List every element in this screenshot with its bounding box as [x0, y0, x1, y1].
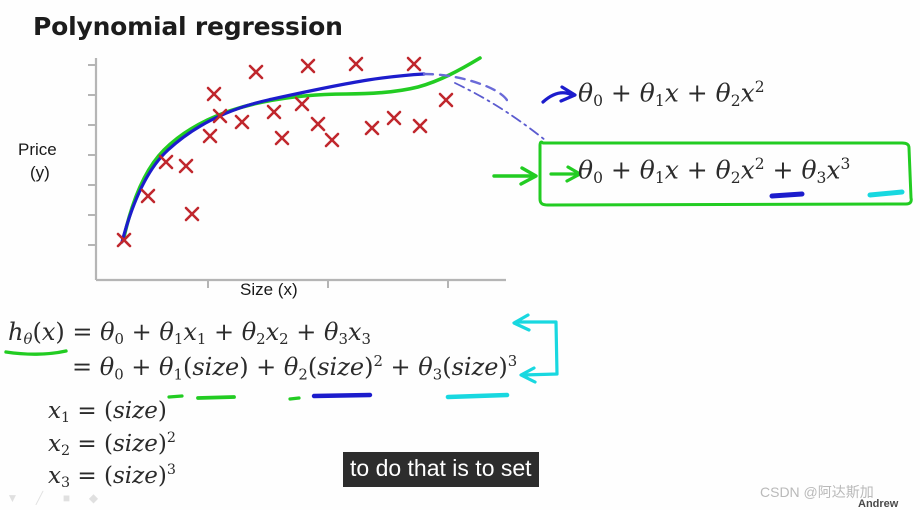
annotation-toolbar[interactable]: ▼ ╱ ■ ◆	[6, 492, 100, 505]
green-underline-size1	[198, 397, 234, 398]
cyan-underline-x3	[870, 192, 902, 195]
subtitle-caption: to do that is to set	[343, 452, 539, 487]
chart-svg	[88, 52, 508, 292]
green-arrow-outer-head	[521, 168, 536, 184]
x3-definition: x3 = (size)3	[48, 462, 176, 491]
scatter-chart	[88, 52, 508, 292]
data-point	[326, 134, 338, 146]
data-point	[204, 130, 216, 142]
data-point	[268, 106, 280, 118]
data-point	[250, 66, 262, 78]
data-point	[160, 156, 172, 168]
cyan-bracket-arrow-top	[514, 315, 529, 330]
eraser-icon[interactable]: ■	[60, 492, 73, 505]
data-point	[186, 208, 198, 220]
blue-arrow	[543, 93, 572, 102]
data-point	[414, 120, 426, 132]
green-underline-hypothesis	[6, 351, 66, 354]
cubic-equation: θ0 + θ1x + θ2x2 + θ3x3	[578, 155, 850, 187]
data-point	[408, 58, 420, 70]
quadratic-fit-curve	[122, 74, 424, 242]
data-point	[440, 94, 452, 106]
x-axis-label: Size (x)	[240, 280, 298, 300]
quadratic-equation: θ0 + θ1x + θ2x2	[578, 78, 765, 110]
green-underline-theta2	[290, 398, 299, 399]
data-point	[388, 112, 400, 124]
watermark: CSDN @阿达斯加	[760, 482, 874, 502]
data-point	[208, 88, 220, 100]
data-point	[350, 58, 362, 70]
data-point	[142, 190, 154, 202]
line-icon[interactable]: ╱	[33, 492, 46, 505]
y-axis-label-price: Price	[18, 140, 57, 160]
blue-arrow-head	[561, 87, 575, 101]
data-point	[180, 160, 192, 172]
pointer-icon[interactable]: ◆	[87, 492, 100, 505]
cyan-bracket-arrow-bottom	[521, 368, 535, 382]
blue-underline-size2	[314, 395, 370, 396]
data-point	[236, 116, 248, 128]
green-underline-theta1	[169, 396, 182, 397]
presenter-name: Andrew	[858, 498, 898, 510]
data-point	[312, 118, 324, 130]
cyan-underline-size3	[448, 395, 507, 397]
data-point	[276, 132, 288, 144]
hypothesis-equation-line2: = θ0 + θ1(size) + θ2(size)2 + θ3(size)3	[72, 352, 517, 383]
cubic-fit-curve	[124, 58, 480, 237]
quadratic-extrapolation-dashed	[424, 74, 508, 102]
slide-canvas: Polynomial regression	[0, 0, 920, 510]
y-axis-label-y: (y)	[30, 163, 50, 183]
data-point	[366, 122, 378, 134]
page-title: Polynomial regression	[33, 12, 343, 41]
x2-definition: x2 = (size)2	[48, 430, 176, 459]
hypothesis-equation-line1: hθ(x) = θ0 + θ1x1 + θ2x2 + θ3x3	[8, 318, 371, 348]
x1-definition: x1 = (size)	[48, 398, 167, 426]
y-axis-ticks	[88, 65, 96, 245]
pen-icon[interactable]: ▼	[6, 492, 19, 505]
blue-underline-x2	[772, 194, 802, 196]
data-point	[296, 98, 308, 110]
cyan-bracket	[516, 322, 557, 375]
data-point	[302, 60, 314, 72]
